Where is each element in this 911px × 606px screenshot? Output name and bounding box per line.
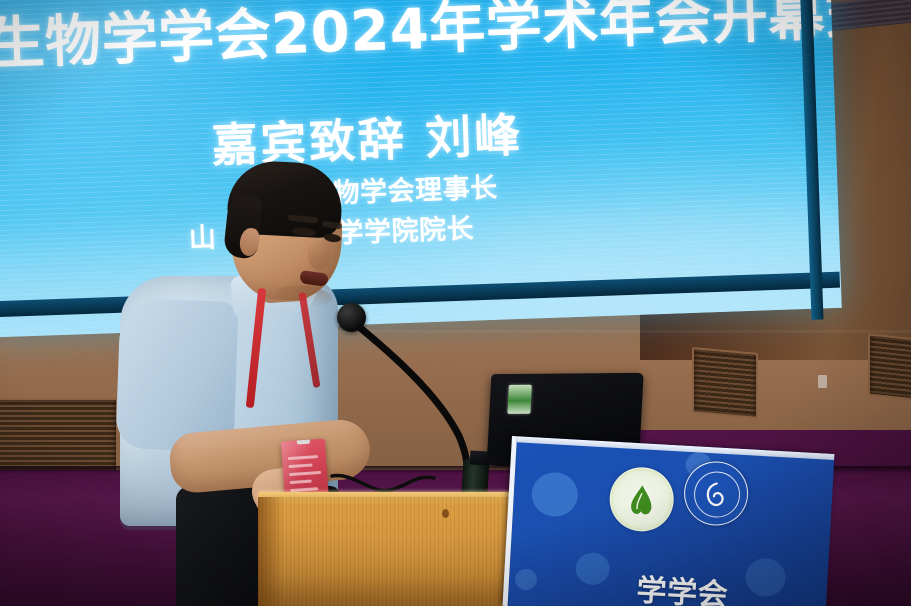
banner-partial-text: 学学会 (636, 565, 730, 606)
university-emblem-glyph (702, 480, 730, 509)
laptop-sticker-label (507, 385, 532, 414)
banner-bubble (531, 471, 579, 517)
podium-wood-knot (442, 509, 449, 518)
shandong-university-emblem-icon (682, 460, 749, 527)
speaker-sleeve (115, 298, 238, 452)
green-leaf-glyph (626, 483, 658, 519)
banner-bubble (744, 557, 786, 597)
podium-left-shading (258, 497, 284, 606)
banner-bubble (575, 552, 611, 586)
conference-banner-board: 学学会 (503, 436, 835, 606)
shandong-society-for-cell-biology-emblem-icon (608, 466, 675, 533)
microphone-gooseneck (347, 318, 475, 468)
photo-scene: 胞生物学学会2024年学术年会开幕式 嘉宾致辞 刘峰 胞生物学会理事长 山 学生… (0, 0, 911, 606)
banner-bubble (514, 568, 537, 590)
microphone-head-icon (337, 303, 366, 332)
